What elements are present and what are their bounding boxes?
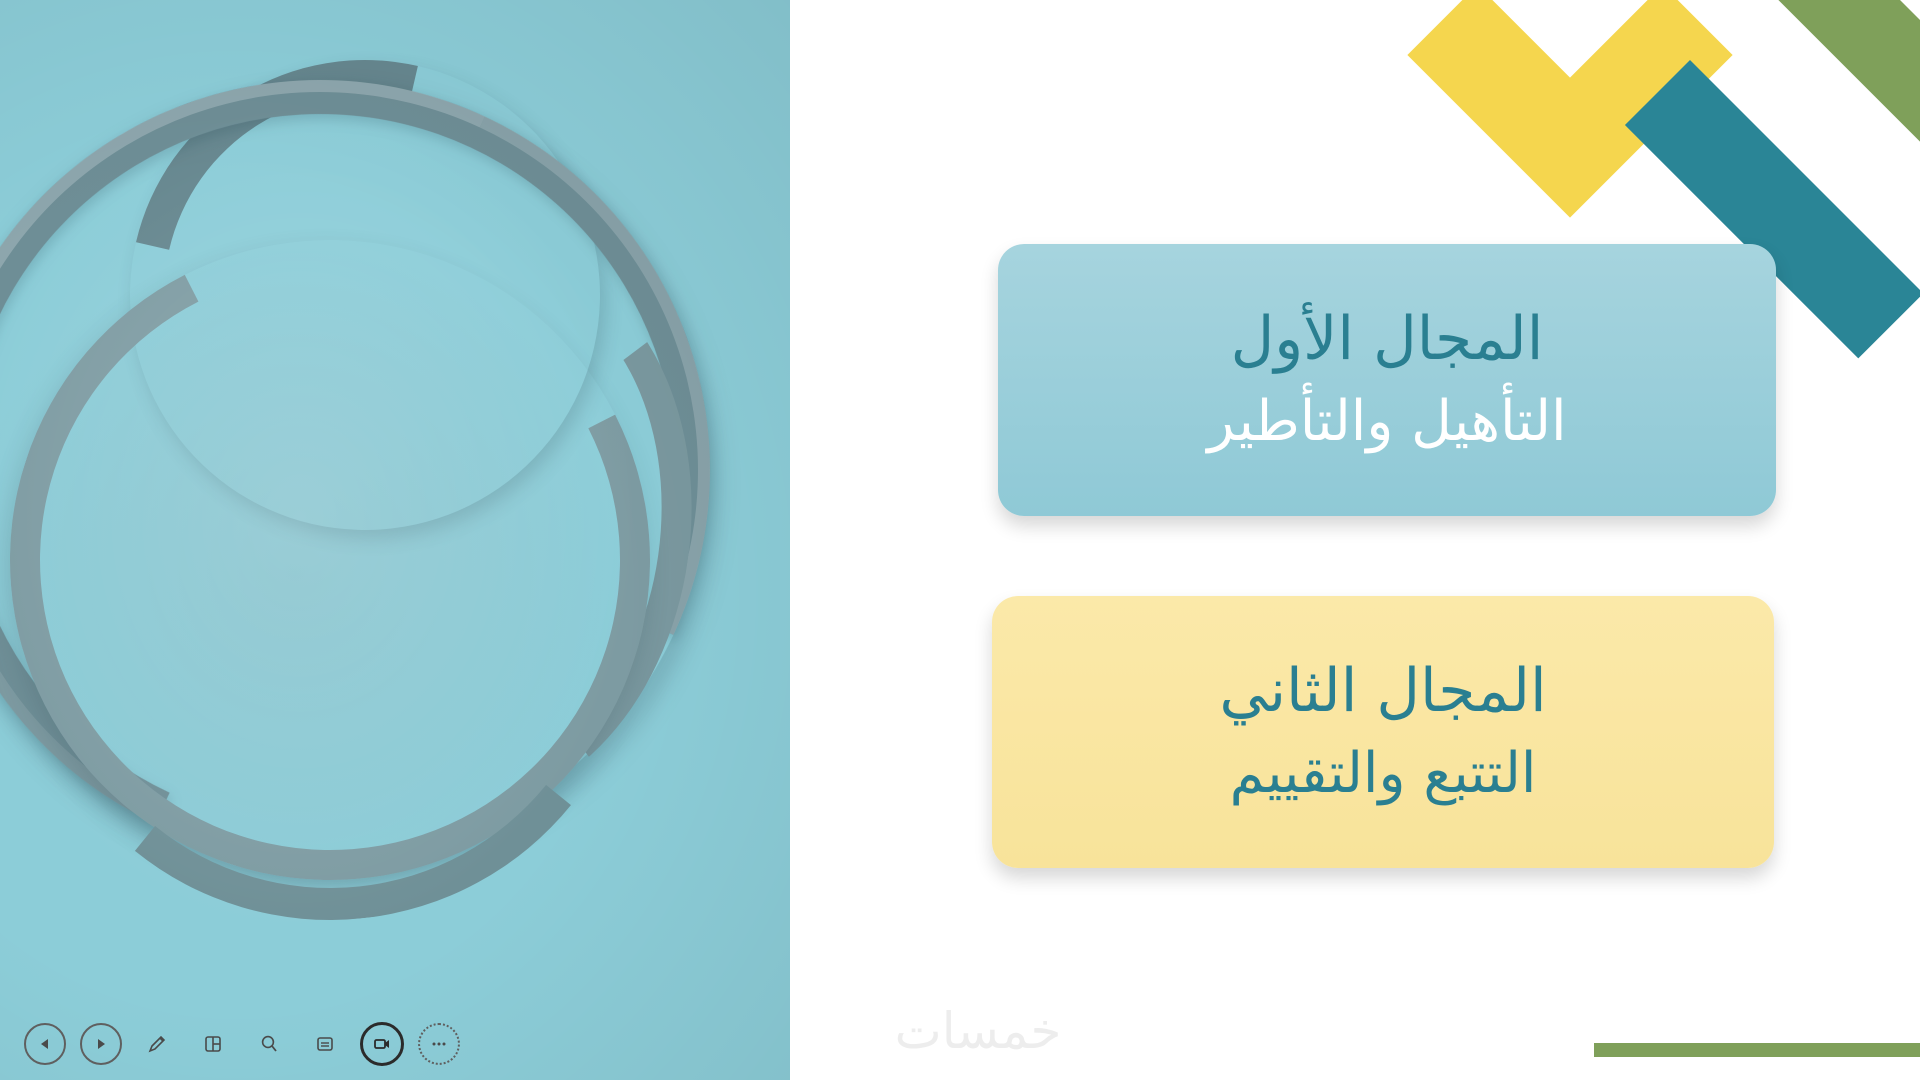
content-box-1-title: المجال الأول xyxy=(1231,305,1544,374)
decorative-rings-image xyxy=(0,0,790,1080)
content-box-2-subtitle: التتبع والتقييم xyxy=(1230,742,1537,806)
previous-slide-button[interactable] xyxy=(24,1023,66,1065)
notes-button[interactable] xyxy=(304,1023,346,1065)
content-box-second-domain[interactable]: المجال الثاني التتبع والتقييم xyxy=(992,596,1774,868)
layout-grid-button[interactable] xyxy=(192,1023,234,1065)
content-box-2-title: المجال الثاني xyxy=(1219,657,1546,726)
zoom-magnifier-button[interactable] xyxy=(248,1023,290,1065)
video-record-button[interactable] xyxy=(360,1022,404,1066)
more-options-button[interactable] xyxy=(418,1023,460,1065)
content-box-1-subtitle: التأهيل والتأطير xyxy=(1207,390,1566,454)
slide-player-toolbar[interactable] xyxy=(0,1008,790,1080)
watermark-text: خمسات xyxy=(858,1002,1098,1060)
content-box-first-domain[interactable]: المجال الأول التأهيل والتأطير xyxy=(998,244,1776,516)
green-bottom-bar xyxy=(1594,1043,1920,1057)
pen-tool-button[interactable] xyxy=(136,1023,178,1065)
image-vignette xyxy=(0,0,790,1080)
presentation-slide: المجال الأول التأهيل والتأطير المجال الث… xyxy=(0,0,1920,1080)
next-slide-button[interactable] xyxy=(80,1023,122,1065)
